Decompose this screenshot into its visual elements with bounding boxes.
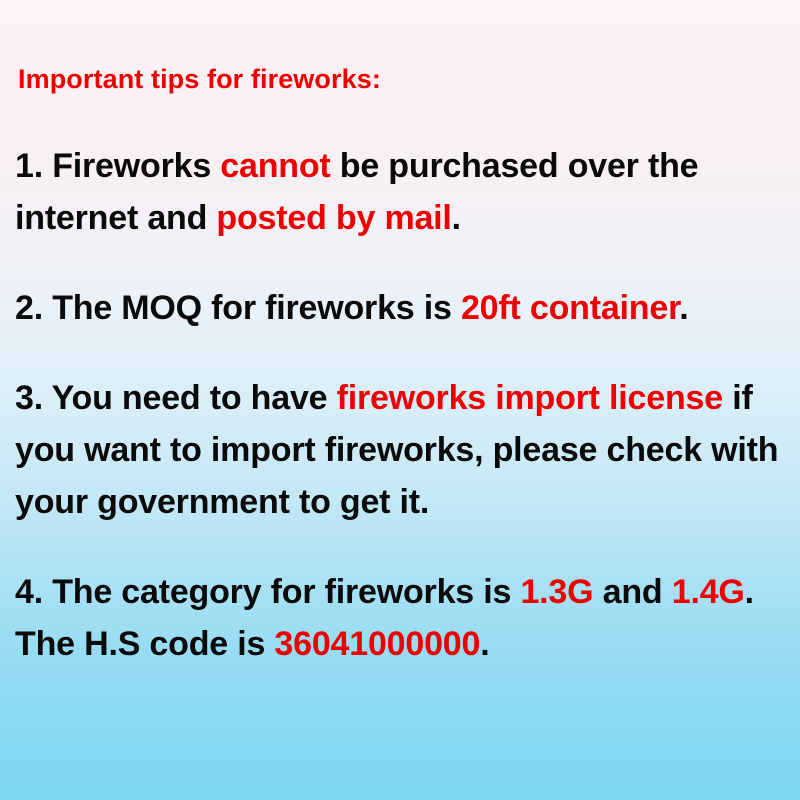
tip-text: 2. The MOQ for fireworks is	[15, 289, 461, 327]
fireworks-tips-poster: Important tips for fireworks: 1. Firewor…	[0, 0, 800, 800]
poster-content: Important tips for fireworks: 1. Firewor…	[15, 62, 790, 670]
tip-highlight: posted by mail	[216, 199, 451, 237]
tip-highlight: cannot	[220, 147, 330, 185]
tip-text: .	[679, 289, 688, 327]
tip-text: 3. You need to have	[15, 379, 337, 417]
tip-highlight: 1.3G	[520, 573, 593, 611]
tip-text: .	[480, 625, 489, 663]
tip-text: 4. The category for fireworks is	[15, 573, 520, 611]
tip-text: .	[452, 199, 461, 237]
tip-text: and	[593, 573, 671, 611]
tip-highlight: 1.4G	[672, 573, 745, 611]
page-title: Important tips for fireworks:	[18, 62, 790, 96]
tip-highlight: 36041000000	[274, 625, 480, 663]
tip-item-4: 4. The category for fireworks is 1.3G an…	[15, 566, 790, 670]
tip-text: 1. Fireworks	[15, 147, 220, 185]
tip-highlight: fireworks import license	[337, 379, 723, 417]
tip-item-3: 3. You need to have fireworks import lic…	[15, 372, 790, 528]
tip-item-2: 2. The MOQ for fireworks is 20ft contain…	[15, 282, 790, 334]
tips-list: 1. Fireworks cannot be purchased over th…	[15, 140, 790, 670]
tip-item-1: 1. Fireworks cannot be purchased over th…	[15, 140, 790, 244]
tip-highlight: 20ft container	[461, 289, 679, 327]
